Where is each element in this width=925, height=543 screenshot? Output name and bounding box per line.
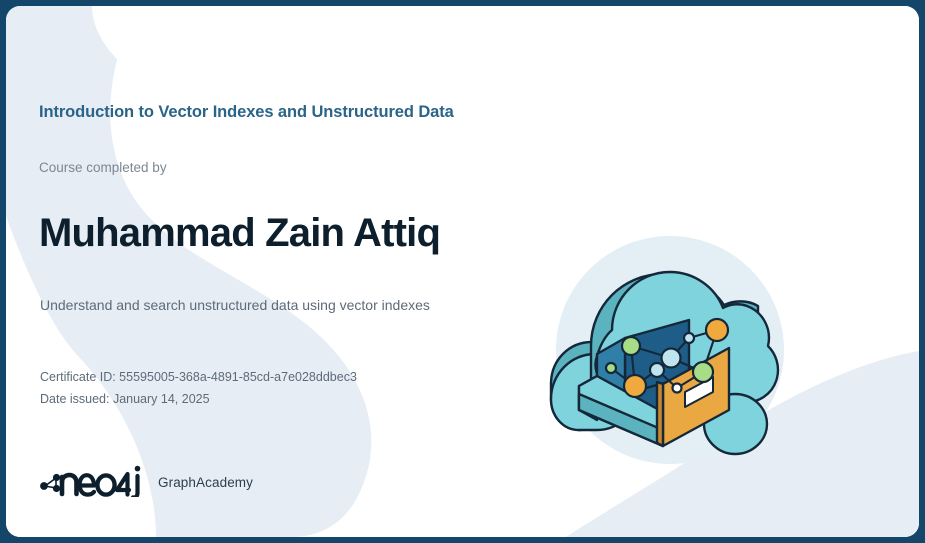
certificate-content: Introduction to Vector Indexes and Unstr…: [39, 6, 569, 537]
graph-node-green: [622, 337, 640, 355]
course-title: Introduction to Vector Indexes and Unstr…: [39, 103, 454, 122]
graph-node-lightblue: [662, 349, 681, 368]
graphacademy-label: GraphAcademy: [158, 471, 253, 490]
graph-node-small-dark: [684, 333, 694, 343]
course-description: Understand and search unstructured data …: [40, 297, 430, 313]
recipient-name: Muhammad Zain Attiq: [39, 211, 440, 256]
graph-node-small-green: [606, 363, 616, 373]
neo4j-j-dot: [135, 466, 141, 472]
graph-node-green-2: [693, 362, 713, 382]
cloud-drawer-graph-illustration: [539, 234, 801, 466]
graph-node-lightblue-2: [650, 363, 664, 377]
certificate-metadata: Certificate ID: 55595005-368a-4891-85cd-…: [40, 366, 357, 410]
certificate-card: Introduction to Vector Indexes and Unstr…: [0, 0, 925, 543]
graph-node-small-white: [673, 384, 682, 393]
graph-node-orange-2: [624, 375, 646, 397]
graph-node-orange: [706, 319, 728, 341]
completed-by-label: Course completed by: [39, 160, 167, 175]
neo4j-wordmark: [62, 474, 138, 497]
certificate-id-line: Certificate ID: 55595005-368a-4891-85cd-…: [40, 366, 357, 388]
neo4j-logo: [39, 463, 144, 497]
neo4j-graph-mark: [41, 475, 59, 492]
date-issued-line: Date issued: January 14, 2025: [40, 388, 357, 410]
certificate-inner: Introduction to Vector Indexes and Unstr…: [6, 6, 919, 537]
footer-branding: GraphAcademy: [39, 463, 253, 497]
drawer-front-edge: [657, 382, 663, 446]
